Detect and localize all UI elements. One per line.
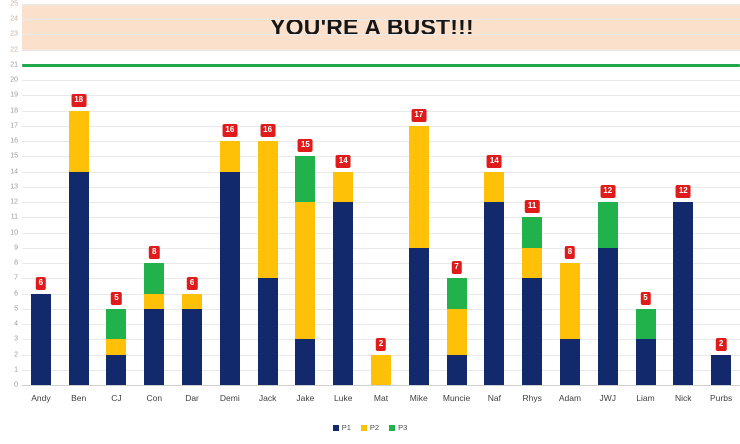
bar-data-label: 15 <box>298 139 313 152</box>
bar-group[interactable]: 14 <box>333 4 353 385</box>
y-axis-tick-label: 10 <box>0 229 18 236</box>
x-axis-label: Andy <box>22 393 60 403</box>
y-axis-tick-label: 7 <box>0 275 18 282</box>
y-axis-tick-label: 9 <box>0 244 18 251</box>
y-axis-tick-label: 23 <box>0 31 18 38</box>
y-axis-tick-label: 16 <box>0 138 18 145</box>
y-axis-tick-label: 20 <box>0 77 18 84</box>
bar-group[interactable]: 12 <box>673 4 693 385</box>
bar-data-label: 16 <box>260 124 275 137</box>
bar-segment-p2[interactable] <box>182 294 202 309</box>
bar-data-label: 8 <box>149 246 159 259</box>
bars-layer: 61858616161514217714118125122 <box>22 4 740 385</box>
legend-item[interactable]: P1 <box>333 423 351 432</box>
y-axis-tick-label: 5 <box>0 305 18 312</box>
legend-item[interactable]: P3 <box>389 423 407 432</box>
bar-group[interactable]: 8 <box>560 4 580 385</box>
y-axis-tick-label: 21 <box>0 61 18 68</box>
legend-swatch-icon <box>389 425 395 431</box>
bar-segment-p2[interactable] <box>144 294 164 309</box>
bar-group[interactable]: 7 <box>447 4 467 385</box>
y-axis-tick-label: 4 <box>0 321 18 328</box>
legend-swatch-icon <box>333 425 339 431</box>
bar-segment-p2[interactable] <box>220 141 240 171</box>
bar-segment-p1[interactable] <box>711 355 731 385</box>
legend-item[interactable]: P2 <box>361 423 379 432</box>
bar-segment-p2[interactable] <box>258 141 278 278</box>
bar-data-label: 6 <box>36 277 46 290</box>
bar-segment-p1[interactable] <box>598 248 618 385</box>
bar-data-label: 18 <box>71 94 86 107</box>
x-axis-label: Mat <box>362 393 400 403</box>
y-axis-tick-label: 3 <box>0 336 18 343</box>
bar-data-label: 5 <box>640 292 650 305</box>
bar-data-label: 14 <box>487 155 502 168</box>
y-axis-tick-label: 12 <box>0 199 18 206</box>
x-axis-label: Purbs <box>702 393 740 403</box>
bar-group[interactable]: 2 <box>711 4 731 385</box>
x-axis-label: Naf <box>475 393 513 403</box>
bar-segment-p2[interactable] <box>69 111 89 172</box>
x-axis-label: CJ <box>98 393 136 403</box>
bar-group[interactable]: 11 <box>522 4 542 385</box>
bar-data-label: 5 <box>111 292 121 305</box>
bar-data-label: 2 <box>716 338 726 351</box>
x-axis-label: Rhys <box>513 393 551 403</box>
bar-group[interactable]: 5 <box>636 4 656 385</box>
bar-segment-p3[interactable] <box>295 156 315 202</box>
y-axis-tick-label: 22 <box>0 46 18 53</box>
bar-group[interactable]: 6 <box>31 4 51 385</box>
bar-segment-p1[interactable] <box>447 355 467 385</box>
bar-data-label: 14 <box>336 155 351 168</box>
x-axis-label: Luke <box>324 393 362 403</box>
x-axis-label: Mike <box>400 393 438 403</box>
bar-segment-p2[interactable] <box>295 202 315 339</box>
x-axis-label: Ben <box>60 393 98 403</box>
x-axis-label: Dar <box>173 393 211 403</box>
bar-group[interactable]: 16 <box>258 4 278 385</box>
bar-segment-p2[interactable] <box>409 126 429 248</box>
bar-segment-p1[interactable] <box>560 339 580 385</box>
x-axis-label: Liam <box>627 393 665 403</box>
x-axis-label: Muncie <box>438 393 476 403</box>
bar-segment-p1[interactable] <box>295 339 315 385</box>
bar-segment-p1[interactable] <box>258 278 278 385</box>
x-axis-label: Adam <box>551 393 589 403</box>
x-axis-label: Nick <box>664 393 702 403</box>
bar-group[interactable]: 14 <box>484 4 504 385</box>
legend-swatch-icon <box>361 425 367 431</box>
bar-group[interactable]: 2 <box>371 4 391 385</box>
y-axis-tick-label: 8 <box>0 260 18 267</box>
bar-segment-p1[interactable] <box>144 309 164 385</box>
y-axis-tick-label: 14 <box>0 168 18 175</box>
bar-segment-p2[interactable] <box>333 172 353 202</box>
axis-baseline <box>22 385 740 386</box>
bar-segment-p2[interactable] <box>484 172 504 202</box>
bar-segment-p1[interactable] <box>182 309 202 385</box>
bar-segment-p3[interactable] <box>447 278 467 308</box>
y-axis-tick-label: 19 <box>0 92 18 99</box>
bar-data-label: 6 <box>187 277 197 290</box>
x-axis-label: Jack <box>249 393 287 403</box>
y-axis-tick-label: 25 <box>0 1 18 8</box>
y-axis-tick-label: 13 <box>0 183 18 190</box>
bar-segment-p1[interactable] <box>106 355 126 385</box>
y-axis-tick-label: 18 <box>0 107 18 114</box>
legend-label: P2 <box>370 423 379 432</box>
bar-segment-p1[interactable] <box>522 278 542 385</box>
bar-group[interactable]: 12 <box>598 4 618 385</box>
bar-group[interactable]: 5 <box>106 4 126 385</box>
bar-segment-p3[interactable] <box>636 309 656 339</box>
plot-area: 0123456789101112131415161718192021222324… <box>22 4 740 385</box>
bar-data-label: 16 <box>222 124 237 137</box>
bar-segment-p2[interactable] <box>522 248 542 278</box>
bar-segment-p3[interactable] <box>598 202 618 248</box>
bar-segment-p3[interactable] <box>522 217 542 247</box>
y-axis-tick-label: 2 <box>0 351 18 358</box>
x-axis-label: Jake <box>287 393 325 403</box>
bar-group[interactable]: 6 <box>182 4 202 385</box>
x-axis-label: Demi <box>211 393 249 403</box>
bar-segment-p2[interactable] <box>371 355 391 385</box>
x-axis-label: JWJ <box>589 393 627 403</box>
bar-segment-p2[interactable] <box>106 339 126 354</box>
bar-segment-p1[interactable] <box>636 339 656 385</box>
bar-group[interactable]: 8 <box>144 4 164 385</box>
y-axis-tick-label: 6 <box>0 290 18 297</box>
bar-data-label: 2 <box>376 338 386 351</box>
bar-segment-p1[interactable] <box>31 294 51 385</box>
bar-segment-p3[interactable] <box>144 263 164 293</box>
y-axis-tick-label: 1 <box>0 366 18 373</box>
bar-group[interactable]: 18 <box>69 4 89 385</box>
bar-group[interactable]: 15 <box>295 4 315 385</box>
bar-segment-p1[interactable] <box>69 172 89 385</box>
bar-data-label: 17 <box>411 109 426 122</box>
bar-segment-p1[interactable] <box>333 202 353 385</box>
bar-segment-p3[interactable] <box>106 309 126 339</box>
legend-label: P1 <box>342 423 351 432</box>
bar-segment-p1[interactable] <box>673 202 693 385</box>
y-axis-tick-label: 17 <box>0 122 18 129</box>
bar-data-label: 7 <box>451 261 461 274</box>
bar-data-label: 11 <box>525 200 539 213</box>
bar-segment-p2[interactable] <box>560 263 580 339</box>
bar-segment-p1[interactable] <box>409 248 429 385</box>
bar-segment-p1[interactable] <box>484 202 504 385</box>
y-axis-tick-label: 24 <box>0 16 18 23</box>
y-axis-tick-label: 15 <box>0 153 18 160</box>
y-axis-tick-label: 11 <box>0 214 18 221</box>
chart-container: YOU'RE A BUST!!! 01234567891011121314151… <box>0 0 740 444</box>
bar-data-label: 8 <box>565 246 575 259</box>
bar-group[interactable]: 16 <box>220 4 240 385</box>
bar-segment-p1[interactable] <box>220 172 240 385</box>
bar-data-label: 12 <box>676 185 691 198</box>
y-axis-tick-label: 0 <box>0 382 18 389</box>
chart-legend: P1P2P3 <box>0 423 740 432</box>
bar-data-label: 12 <box>600 185 615 198</box>
bar-group[interactable]: 17 <box>409 4 429 385</box>
legend-label: P3 <box>398 423 407 432</box>
bar-segment-p2[interactable] <box>447 309 467 355</box>
x-axis-label: Con <box>135 393 173 403</box>
